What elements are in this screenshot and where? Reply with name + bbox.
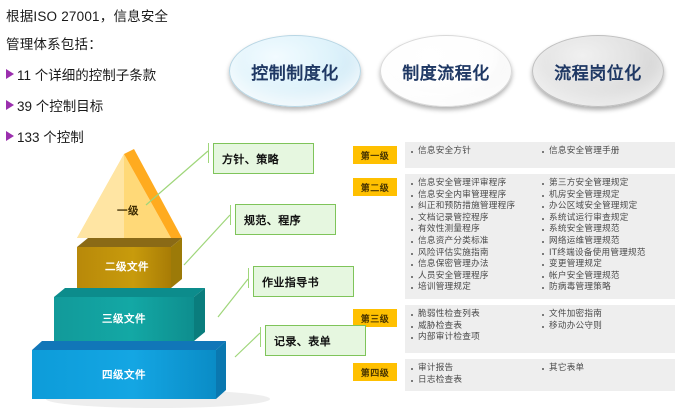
list-item-label: 第三方安全管理规定 (549, 178, 629, 190)
bullet-dot-icon (542, 253, 544, 255)
bullet-dot-icon (411, 195, 413, 197)
bullet-dot-icon (411, 314, 413, 316)
ellipse-institution-process: 制度流程化 (380, 35, 512, 107)
list-item-label: 变更管理规定 (549, 259, 602, 271)
row-4-panel: 审计报告 日志检查表 其它表单 (405, 359, 675, 391)
callout-3-label: 作业指导书 (262, 274, 319, 290)
bullet-dot-icon (411, 229, 413, 231)
list-item-label: 人员安全管理程序 (418, 271, 489, 283)
list-item: 纠正和预防措施管理程序 (411, 201, 538, 213)
bullet-dot-icon (411, 380, 413, 382)
callout-3-tick (248, 268, 249, 288)
status-badge: 第四级 (353, 363, 397, 381)
list-item-label: 信息安全内审管理程序 (418, 190, 506, 202)
bullet-dot-icon (411, 241, 413, 243)
list-item-label: 系统试运行审查规定 (549, 213, 629, 225)
list-item: 信息资产分类标准 (411, 236, 538, 248)
intro-line-2: 管理体系包括： (6, 36, 221, 53)
list-item: 信息安全内审管理程序 (411, 190, 538, 202)
ellipse-1-label: 控制制度化 (251, 59, 339, 84)
bullet-dot-icon (542, 195, 544, 197)
bullet-dot-icon (542, 326, 544, 328)
list-item: 防病毒管理策略 (542, 282, 669, 294)
bullet-dot-icon (411, 206, 413, 208)
bullet-dot-icon (542, 368, 544, 370)
list-item-label: 有效性测量程序 (418, 224, 480, 236)
pyramid-level-2-label: 二级文件 (90, 259, 164, 274)
callout-work-instruction: 作业指导书 (253, 266, 354, 297)
intro-bullet-2: 39 个控制目标 (6, 95, 221, 115)
pyramid-level-1-label: 一级 (102, 203, 154, 218)
ellipse-process-position: 流程岗位化 (532, 35, 664, 107)
row-4-col-right: 其它表单 (542, 363, 669, 386)
bullet-dot-icon (542, 206, 544, 208)
list-item-label: 帐户安全管理规范 (549, 271, 620, 283)
list-item-label: 其它表单 (549, 363, 584, 375)
intro-bullet-1-label: 11 个详细的控制子条款 (17, 64, 156, 84)
list-item: 培训管理规定 (411, 282, 538, 294)
list-item: 变更管理规定 (542, 259, 669, 271)
list-item: 审计报告 (411, 363, 538, 375)
callout-2-label: 规范、程序 (244, 212, 301, 228)
row-3-col-right: 文件加密指南 移动办公守则 (542, 309, 669, 348)
bullet-dot-icon (411, 218, 413, 220)
list-item: 内部审计检查项 (411, 332, 538, 344)
bullet-dot-icon (411, 264, 413, 266)
bullet-dot-icon (411, 183, 413, 185)
list-item: 第三方安全管理规定 (542, 178, 669, 190)
list-item: 信息保密管理办法 (411, 259, 538, 271)
list-item: 威胁检查表 (411, 321, 538, 333)
list-item-label: 审计报告 (418, 363, 453, 375)
status-badge: 第一级 (353, 146, 397, 164)
list-item-label: 文件加密指南 (549, 309, 602, 321)
list-item-label: 脆弱性检查列表 (418, 309, 480, 321)
list-item: 信息安全方针 (411, 146, 538, 158)
list-item: 系统安全管理规范 (542, 224, 669, 236)
intro-bullet-3-label: 133 个控制 (17, 126, 84, 146)
row-2-panel: 信息安全管理评审程序 信息安全内审管理程序 纠正和预防措施管理程序 文档记录管控… (405, 174, 675, 299)
triangle-right-icon (6, 131, 14, 141)
list-item: 信息安全管理手册 (542, 146, 669, 158)
list-item-label: 威胁检查表 (418, 321, 462, 333)
triangle-right-icon (6, 69, 14, 79)
triangle-right-icon (6, 100, 14, 110)
list-item-label: 信息资产分类标准 (418, 236, 489, 248)
list-item: IT终端设备使用管理规范 (542, 248, 669, 260)
list-item: 办公区域安全管理规定 (542, 201, 669, 213)
list-item: 文件加密指南 (542, 309, 669, 321)
ellipse-control-institutionalization: 控制制度化 (229, 35, 361, 107)
list-item-label: 信息安全方针 (418, 146, 471, 158)
list-item-label: 信息安全管理手册 (549, 146, 620, 158)
row-2-col-left: 信息安全管理评审程序 信息安全内审管理程序 纠正和预防措施管理程序 文档记录管控… (411, 178, 538, 294)
list-item: 移动办公守则 (542, 321, 669, 333)
slide-canvas: 根据ISO 27001，信息安全 管理体系包括： 11 个详细的控制子条款 39… (0, 0, 678, 414)
document-levels-table: 第一级 信息安全方针 信息安全管理手册 第二级 (353, 142, 675, 397)
row-1-panel: 信息安全方针 信息安全管理手册 (405, 142, 675, 168)
list-item-label: 信息保密管理办法 (418, 259, 489, 271)
status-badge: 第二级 (353, 178, 397, 196)
list-item: 系统试运行审查规定 (542, 213, 669, 225)
bullet-dot-icon (542, 229, 544, 231)
list-item: 其它表单 (542, 363, 669, 375)
row-1-col-left: 信息安全方针 (411, 146, 538, 163)
list-item: 机房安全管理规定 (542, 190, 669, 202)
table-row: 第一级 信息安全方针 信息安全管理手册 (353, 142, 675, 168)
list-item: 有效性测量程序 (411, 224, 538, 236)
list-item: 脆弱性检查列表 (411, 309, 538, 321)
list-item-label: 移动办公守则 (549, 321, 602, 333)
bullet-dot-icon (542, 264, 544, 266)
row-4-col-left: 审计报告 日志检查表 (411, 363, 538, 386)
table-row: 第三级 脆弱性检查列表 威胁检查表 内部审计检查项 文件加密指南 移动办公守则 (353, 305, 675, 353)
bullet-dot-icon (411, 287, 413, 289)
callout-2-tick (230, 205, 231, 225)
intro-bullet-1: 11 个详细的控制子条款 (6, 64, 221, 84)
row-3-panel: 脆弱性检查列表 威胁检查表 内部审计检查项 文件加密指南 移动办公守则 (405, 305, 675, 353)
pyramid-level-4-label: 四级文件 (87, 367, 161, 382)
list-item-label: 机房安全管理规定 (549, 190, 620, 202)
list-item: 人员安全管理程序 (411, 271, 538, 283)
table-row: 第四级 审计报告 日志检查表 其它表单 (353, 359, 675, 391)
bullet-dot-icon (411, 276, 413, 278)
bullet-dot-icon (411, 337, 413, 339)
list-item-label: 办公区域安全管理规定 (549, 201, 637, 213)
bullet-dot-icon (542, 241, 544, 243)
intro-bullet-3: 133 个控制 (6, 126, 221, 146)
callout-4-tick (260, 327, 261, 347)
list-item-label: 风险评估实施指南 (418, 248, 489, 260)
list-item: 网络运维管理规范 (542, 236, 669, 248)
intro-bullet-2-label: 39 个控制目标 (17, 95, 103, 115)
bullet-dot-icon (542, 183, 544, 185)
list-item-label: 系统安全管理规范 (549, 224, 620, 236)
bullet-dot-icon (542, 287, 544, 289)
bullet-dot-icon (411, 326, 413, 328)
bullet-dot-icon (542, 276, 544, 278)
list-item-label: 日志检查表 (418, 375, 462, 387)
list-item-label: 信息安全管理评审程序 (418, 178, 506, 190)
bullet-dot-icon (411, 151, 413, 153)
callout-policy-strategy: 方针、策略 (213, 143, 314, 174)
list-item-label: 培训管理规定 (418, 282, 471, 294)
row-1-col-right: 信息安全管理手册 (542, 146, 669, 163)
list-item-label: 网络运维管理规范 (549, 236, 620, 248)
list-item: 信息安全管理评审程序 (411, 178, 538, 190)
bullet-dot-icon (542, 151, 544, 153)
callout-4-label: 记录、表单 (274, 333, 331, 349)
row-3-col-left: 脆弱性检查列表 威胁检查表 内部审计检查项 (411, 309, 538, 348)
intro-text-block: 根据ISO 27001，信息安全 管理体系包括： 11 个详细的控制子条款 39… (6, 8, 221, 157)
list-item: 风险评估实施指南 (411, 248, 538, 260)
callout-leader-lines (130, 145, 265, 360)
ellipse-2-label: 制度流程化 (402, 59, 490, 84)
intro-line-1: 根据ISO 27001，信息安全 (6, 8, 221, 25)
bullet-dot-icon (542, 218, 544, 220)
row-2-col-right: 第三方安全管理规定 机房安全管理规定 办公区域安全管理规定 系统试运行审查规定 … (542, 178, 669, 294)
list-item-label: 文档记录管控程序 (418, 213, 489, 225)
list-item: 帐户安全管理规范 (542, 271, 669, 283)
callout-1-tick (208, 143, 209, 163)
callout-record-form: 记录、表单 (265, 325, 366, 356)
list-item-label: IT终端设备使用管理规范 (549, 248, 646, 260)
table-row: 第二级 信息安全管理评审程序 信息安全内审管理程序 纠正和预防措施管理程序 文档… (353, 174, 675, 299)
bullet-dot-icon (411, 368, 413, 370)
list-item-label: 防病毒管理策略 (549, 282, 611, 294)
bullet-dot-icon (411, 253, 413, 255)
list-item: 文档记录管控程序 (411, 213, 538, 225)
list-item: 日志检查表 (411, 375, 538, 387)
bullet-dot-icon (542, 314, 544, 316)
ellipse-3-label: 流程岗位化 (554, 59, 642, 84)
pyramid-level-3-label: 三级文件 (87, 311, 161, 326)
list-item-label: 内部审计检查项 (418, 332, 480, 344)
callout-1-label: 方针、策略 (222, 151, 279, 167)
callout-spec-procedure: 规范、程序 (235, 204, 336, 235)
list-item-label: 纠正和预防措施管理程序 (418, 201, 515, 213)
